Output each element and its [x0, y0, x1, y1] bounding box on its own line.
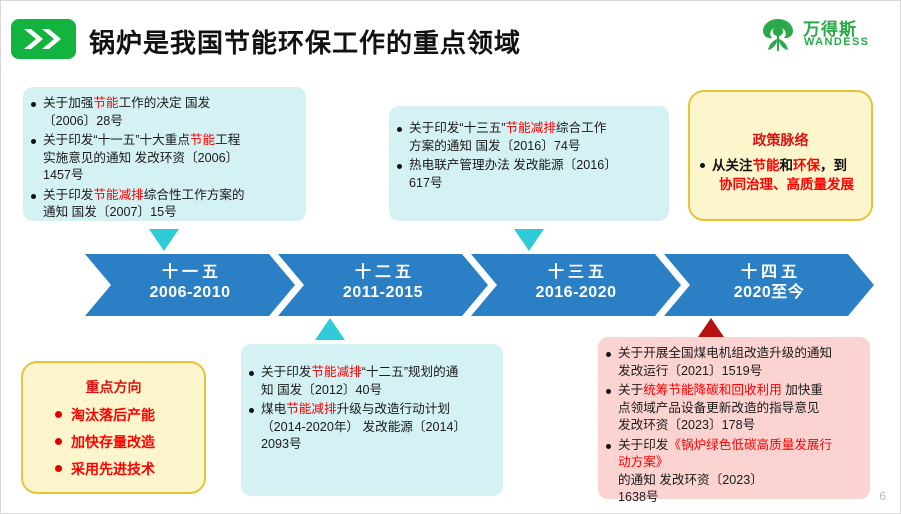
- timeline-strip: 十一五 2006-2010 十二五 2011-2015 十三五 2016-202…: [1, 254, 901, 316]
- text-run: 环保: [793, 158, 820, 173]
- text-run: 发改环资〔2023〕178号: [618, 417, 860, 435]
- timeline-item-1[interactable]: 十二五 2011-2015: [278, 254, 488, 316]
- policy-context-text: 从关注节能和环保，到 协同治理、高质量发展: [700, 156, 861, 194]
- slide-canvas: 锅炉是我国节能环保工作的重点领域 万得斯 WANDESS 关于加强节能工作的决定…: [0, 0, 901, 514]
- timeline-period-name: 十一五: [85, 263, 295, 283]
- policy-context-line1: 从关注节能和环保，到: [712, 158, 847, 173]
- text-run: 综合性工作方案的: [144, 188, 245, 202]
- text-run: 发改运行〔2021〕1519号: [618, 363, 860, 381]
- bullet-item: 关于印发《锅炉绿色低碳高质量发展行动方案》的通知 发改环资〔2023〕1638号: [606, 437, 860, 507]
- text-run: 加快重: [782, 383, 823, 397]
- text-run: 1457号: [43, 167, 296, 185]
- list-item: 采用先进技术: [55, 460, 196, 478]
- timeline-period-years: 2016-2020: [471, 283, 681, 303]
- timeline-item-3[interactable]: 十四五 2020至今: [664, 254, 874, 316]
- timeline-item-0[interactable]: 十一五 2006-2010: [85, 254, 295, 316]
- bullet-list: 关于印发“十三五”节能减排综合工作方案的通知 国发〔2016〕74号热电联产管理…: [397, 120, 659, 192]
- text-run: 节能减排: [286, 402, 336, 416]
- timeline-item-2[interactable]: 十三五 2016-2020: [471, 254, 681, 316]
- text-run: 动方案》: [618, 454, 860, 472]
- text-run: 点领域产品设备更新改造的指导意见: [618, 400, 860, 418]
- text-run: ，到: [820, 158, 847, 173]
- timeline-period-years: 2020至今: [664, 283, 874, 303]
- text-run: 节能减排: [311, 365, 361, 379]
- bullet-list: 关于开展全国煤电机组改造升级的通知发改运行〔2021〕1519号关于统筹节能降碳…: [606, 345, 860, 507]
- bullet-item: 关于印发“十三五”节能减排综合工作方案的通知 国发〔2016〕74号: [397, 120, 659, 155]
- bullet-list: 关于印发节能减排“十二五”规划的通知 国发〔2012〕40号煤电节能减排升级与改…: [249, 364, 493, 454]
- text-run: （2014-2020年） 发改能源〔2014〕: [261, 419, 493, 437]
- page-number: 6: [879, 489, 886, 503]
- text-run: 关于加强: [43, 96, 93, 110]
- callout-top-left: 关于加强节能工作的决定 国发〔2006〕28号关于印发“十一五”十大重点节能工程…: [23, 87, 306, 221]
- slide-header: 锅炉是我国节能环保工作的重点领域 万得斯 WANDESS: [1, 1, 901, 73]
- callout-top-middle: 关于印发“十三五”节能减排综合工作方案的通知 国发〔2016〕74号热电联产管理…: [389, 106, 669, 221]
- logo-text-en: WANDESS: [804, 36, 869, 48]
- bullet-item: 关于印发节能减排“十二五”规划的通知 国发〔2012〕40号: [249, 364, 493, 399]
- text-run: “十二五”规划的通: [362, 365, 459, 379]
- text-run: 的通知 发改环资〔2023〕: [618, 473, 763, 487]
- text-run: 关于印发: [43, 188, 93, 202]
- text-run: 实施意见的通知 发改环资〔2006〕: [43, 150, 296, 168]
- text-run: 节能: [753, 158, 780, 173]
- connector-down-to-11th: [149, 229, 179, 251]
- text-run: 方案的通知 国发〔2016〕74号: [409, 138, 659, 156]
- text-run: 1638号: [618, 489, 860, 507]
- bullet-item: 关于开展全国煤电机组改造升级的通知发改运行〔2021〕1519号: [606, 345, 860, 380]
- text-run: 和: [780, 158, 794, 173]
- key-directions-list: 淘汰落后产能加快存量改造采用先进技术: [31, 406, 196, 478]
- text-run: 工程: [215, 133, 240, 147]
- bullet-item: 关于印发节能减排综合性工作方案的通知 国发〔2007〕15号: [31, 187, 296, 222]
- text-run: 知 国发〔2012〕40号: [261, 382, 493, 400]
- policy-context-line2: 协同治理、高质量发展: [712, 175, 861, 194]
- policy-context-title: 政策脉络: [700, 130, 861, 150]
- callout-bottom-middle: 关于印发节能减排“十二五”规划的通知 国发〔2012〕40号煤电节能减排升级与改…: [241, 344, 503, 496]
- text-run: 关于印发“十一五”十大重点: [43, 133, 190, 147]
- brand-logo: 万得斯 WANDESS: [758, 15, 888, 55]
- callout-policy-context: 政策脉络 从关注节能和环保，到 协同治理、高质量发展: [688, 90, 873, 221]
- text-run: 工作的决定 国发: [119, 96, 211, 110]
- text-run: 从关注: [712, 158, 753, 173]
- bullet-item: 关于印发“十一五”十大重点节能工程实施意见的通知 发改环资〔2006〕1457号: [31, 132, 296, 185]
- text-run: 关于印发: [261, 365, 311, 379]
- text-run: 关于: [618, 383, 643, 397]
- list-item: 淘汰落后产能: [55, 406, 196, 424]
- text-run: 关于印发“十三五”: [409, 121, 506, 135]
- text-run: 617号: [409, 175, 659, 193]
- text-run: 《锅炉绿色低碳高质量发展行: [668, 438, 832, 452]
- bullet-item: 关于加强节能工作的决定 国发〔2006〕28号: [31, 95, 296, 130]
- timeline-period-name: 十三五: [471, 263, 681, 283]
- text-run: 综合工作: [556, 121, 606, 135]
- key-directions-title: 重点方向: [31, 377, 196, 397]
- connector-up-to-12th: [315, 318, 345, 340]
- text-run: 节能: [190, 133, 215, 147]
- callout-key-directions: 重点方向 淘汰落后产能加快存量改造采用先进技术: [21, 361, 206, 494]
- bullet-item: 热电联产管理办法 发改能源〔2016〕617号: [397, 157, 659, 192]
- bullet-item: 煤电节能减排升级与改造行动计划（2014-2020年） 发改能源〔2014〕20…: [249, 401, 493, 454]
- text-run: 关于印发: [618, 438, 668, 452]
- text-run: 节能减排: [506, 121, 556, 135]
- text-run: 升级与改造行动计划: [337, 402, 450, 416]
- wandess-leaf-icon: [758, 17, 798, 58]
- text-run: 热电联产管理办法 发改能源〔2016〕: [409, 158, 617, 172]
- text-run: 节能减排: [93, 188, 143, 202]
- bullet-list: 关于加强节能工作的决定 国发〔2006〕28号关于印发“十一五”十大重点节能工程…: [31, 95, 296, 222]
- text-run: 〔2006〕28号: [43, 113, 296, 131]
- list-item: 加快存量改造: [55, 433, 196, 451]
- callout-bottom-right: 关于开展全国煤电机组改造升级的通知发改运行〔2021〕1519号关于统筹节能降碳…: [598, 337, 870, 499]
- text-run: 节能: [93, 96, 118, 110]
- text-run: 关于开展全国煤电机组改造升级的通知: [618, 346, 832, 360]
- double-chevron-icon: [11, 19, 76, 59]
- connector-down-to-13th: [514, 229, 544, 251]
- bullet-item: 关于统筹节能降碳和回收利用 加快重点领域产品设备更新改造的指导意见发改环资〔20…: [606, 382, 860, 435]
- text-run: 通知 国发〔2007〕15号: [43, 204, 296, 222]
- text-run: 煤电: [261, 402, 286, 416]
- timeline-period-years: 2011-2015: [278, 283, 488, 303]
- timeline-period-years: 2006-2010: [85, 283, 295, 303]
- text-run: 统筹节能降碳和回收利用: [643, 383, 782, 397]
- page-title: 锅炉是我国节能环保工作的重点领域: [89, 23, 521, 60]
- timeline-period-name: 十二五: [278, 263, 488, 283]
- timeline-period-name: 十四五: [664, 263, 874, 283]
- text-run: 2093号: [261, 436, 493, 454]
